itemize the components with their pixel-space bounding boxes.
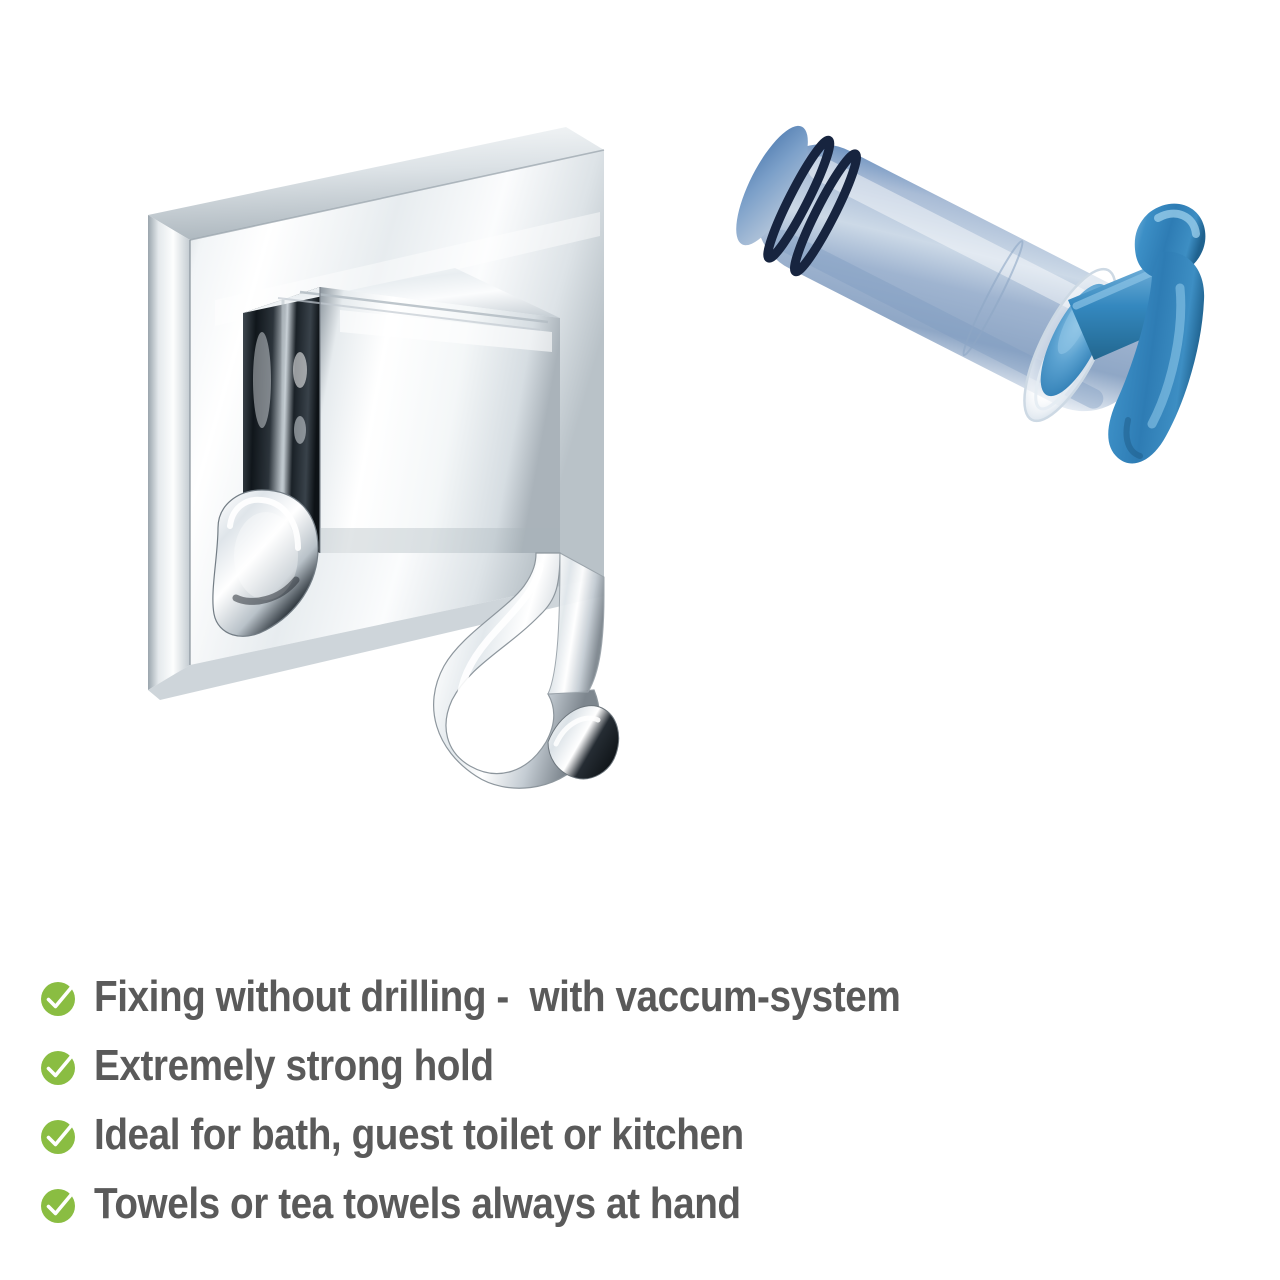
feature-label: Fixing without drilling - with vaccum-sy… xyxy=(94,975,900,1019)
feature-list: Fixing without drilling - with vaccum-sy… xyxy=(40,962,1240,1238)
feature-item: Towels or tea towels always at hand xyxy=(40,1169,1240,1238)
feature-label: Towels or tea towels always at hand xyxy=(94,1182,741,1226)
feature-item: Fixing without drilling - with vaccum-sy… xyxy=(40,962,1240,1031)
product-illustration xyxy=(0,0,1280,930)
cube-reflection-c xyxy=(294,416,306,444)
cube-reflection-a xyxy=(253,332,271,428)
product-photo xyxy=(0,0,1280,930)
check-circle-icon xyxy=(40,1117,78,1155)
check-circle-icon xyxy=(40,1048,78,1086)
feature-label: Ideal for bath, guest toilet or kitchen xyxy=(94,1113,744,1157)
plate-left-bevel xyxy=(148,215,190,690)
feature-item: Extremely strong hold xyxy=(40,1031,1240,1100)
feature-label: Extremely strong hold xyxy=(94,1044,494,1088)
product-feature-page: Fixing without drilling - with vaccum-sy… xyxy=(0,0,1280,1280)
chrome-hook-graphic xyxy=(148,127,619,788)
blue-pump-graphic xyxy=(722,117,1205,464)
cube-reflection-b xyxy=(293,352,307,388)
feature-item: Ideal for bath, guest toilet or kitchen xyxy=(40,1100,1240,1169)
check-circle-icon xyxy=(40,1186,78,1224)
cube-bottom-shade xyxy=(320,528,560,553)
check-circle-icon xyxy=(40,979,78,1017)
